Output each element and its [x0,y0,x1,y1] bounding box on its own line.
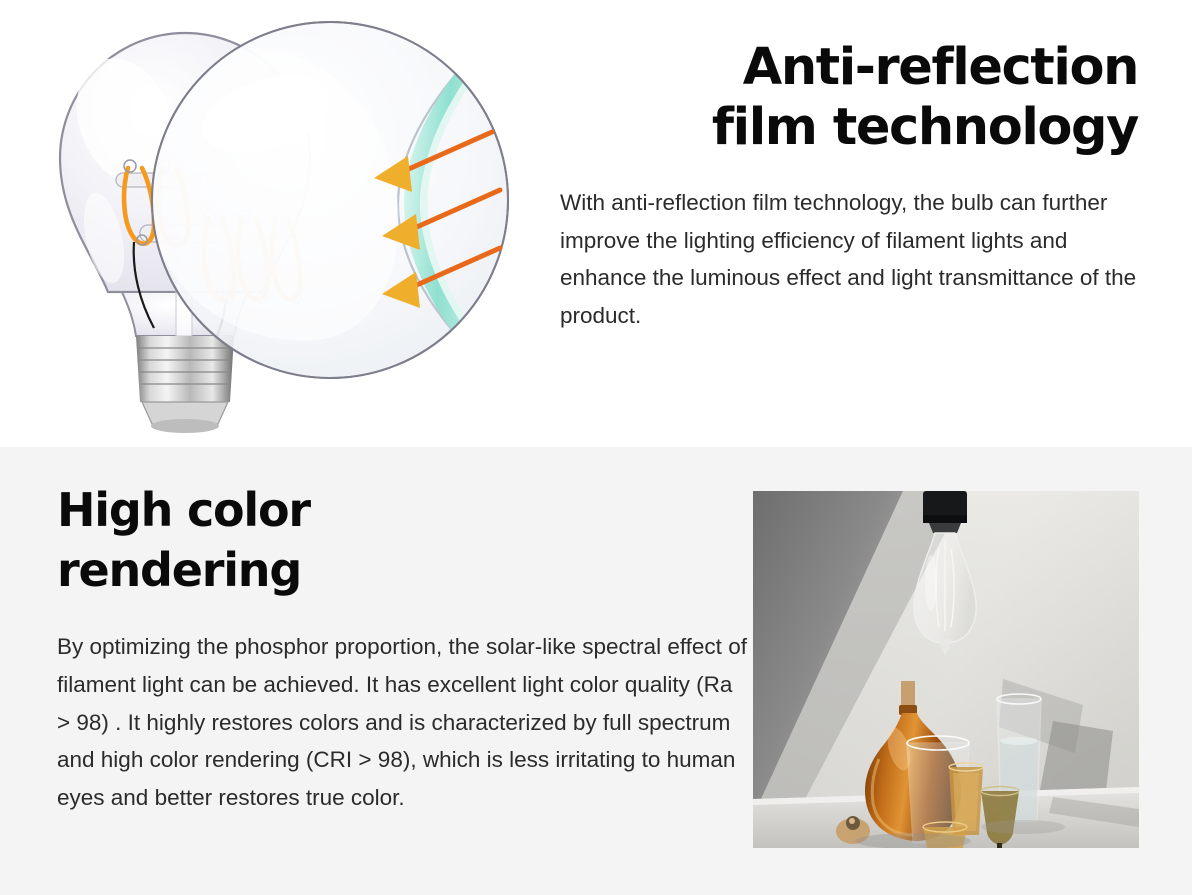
led-filament-bulb-with-anti-reflection-film-diagram [30,10,550,435]
high-color-rendering-section: High color rendering By optimizing the p… [0,447,1192,895]
product-feature-page: Anti-reflection film technology With ant… [0,0,1192,895]
e26-screw-base [136,336,234,433]
amber-textured-glass [949,763,983,835]
anti-reflection-body-text: With anti-reflection film technology, th… [560,184,1138,334]
anti-reflection-heading: Anti-reflection film technology [560,38,1138,158]
anti-reflection-section: Anti-reflection film technology With ant… [0,0,1192,447]
high-color-rendering-body-text: By optimizing the phosphor proportion, t… [57,628,747,817]
edison-bulb-still-life-photo [753,491,1139,848]
high-color-rendering-text-block: High color rendering By optimizing the p… [57,480,747,817]
hanging-edison-bulb [914,491,976,655]
anti-reflection-text-block: Anti-reflection film technology With ant… [560,38,1138,334]
high-color-rendering-heading: High color rendering [57,480,747,600]
